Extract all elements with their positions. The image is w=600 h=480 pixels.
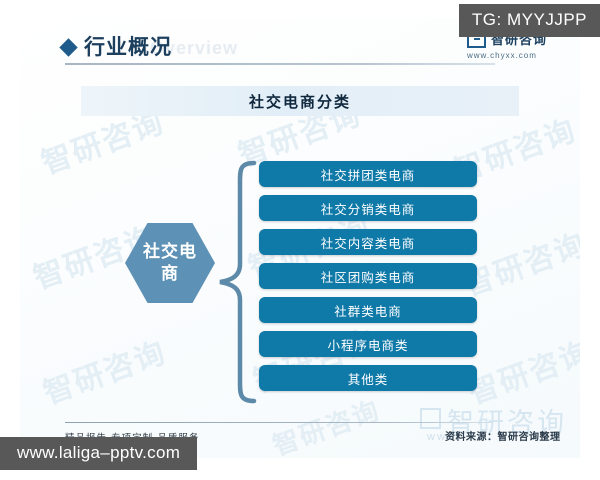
category-label: 社交内容类电商 xyxy=(321,233,416,252)
chart-title-band: 社交电商分类 xyxy=(81,86,519,116)
site-url-watermark-band: www.laliga–pptv.com xyxy=(0,437,197,470)
category-label: 社交分销类电商 xyxy=(321,199,416,218)
slide-canvas: 智研咨询 智研咨询 智研咨询 智研咨询 智研咨询 智研咨询 智研咨询 智研咨询 … xyxy=(20,18,580,458)
footer-divider xyxy=(65,422,493,423)
category-box[interactable]: 社交分销类电商 xyxy=(259,195,477,221)
category-label: 其他类 xyxy=(348,369,389,388)
hub-label-line-1: 社交电 xyxy=(143,241,197,263)
category-box[interactable]: 社交拼团类电商 xyxy=(259,161,477,187)
category-box[interactable]: 社交内容类电商 xyxy=(259,229,477,255)
category-box-list: 社交拼团类电商 社交分销类电商 社交内容类电商 社区团购类电商 社群类电商 小程… xyxy=(259,161,477,391)
category-box[interactable]: 其他类 xyxy=(259,365,477,391)
brand-logo-url: www.chyxx.com xyxy=(467,51,577,60)
curly-brace-icon xyxy=(216,160,258,405)
category-label: 社区团购类电商 xyxy=(321,267,416,286)
category-label: 社交拼团类电商 xyxy=(321,165,416,184)
chart-title: 社交电商分类 xyxy=(249,91,351,112)
category-box[interactable]: 小程序电商类 xyxy=(259,331,477,357)
hub-hexagon: 社交电 商 xyxy=(125,223,215,303)
classification-diagram: 社交电 商 社交拼团类电商 社交分销类电商 社交内容类电商 社区团购类电商 社群… xyxy=(20,123,580,413)
category-label: 社群类电商 xyxy=(334,301,402,320)
category-box[interactable]: 社区团购类电商 xyxy=(259,263,477,289)
category-label: 小程序电商类 xyxy=(327,335,408,354)
telegram-watermark-band: TG: MYYJJPP xyxy=(459,4,600,37)
diamond-bullet-icon xyxy=(59,38,77,56)
category-box[interactable]: 社群类电商 xyxy=(259,297,477,323)
hub-label-line-2: 商 xyxy=(161,263,179,285)
section-title: 行业概况 xyxy=(84,31,172,61)
footer-source: 资料来源：智研咨询整理 xyxy=(445,428,561,443)
header-divider xyxy=(65,63,495,65)
